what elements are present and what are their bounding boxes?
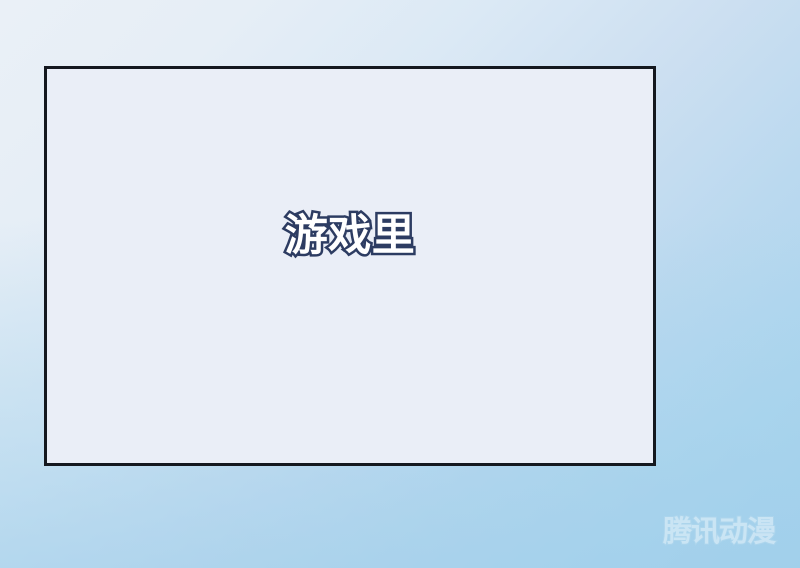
watermark-text: 腾讯动漫 bbox=[663, 517, 775, 546]
comic-panel: 游戏里 bbox=[44, 66, 656, 466]
caption-text: 游戏里 bbox=[285, 215, 416, 258]
panel-caption: 游戏里 bbox=[47, 215, 653, 258]
publisher-watermark: 腾讯动漫 bbox=[663, 517, 775, 546]
comic-page: 游戏里 腾讯动漫 bbox=[0, 0, 800, 568]
